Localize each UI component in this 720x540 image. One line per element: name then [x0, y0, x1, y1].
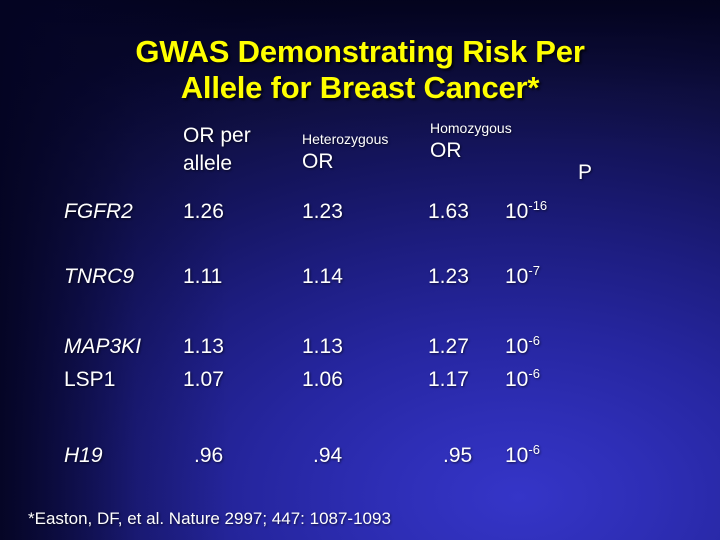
cell-p-value: 10-6: [505, 367, 540, 393]
slide-title-line-1: GWAS Demonstrating Risk Per: [0, 34, 720, 70]
cell-heterozygous-or: .94: [313, 443, 342, 469]
p-value-base: 10: [505, 265, 528, 288]
column-header-homozygous-or: Homozygous OR: [430, 120, 512, 165]
cell-gene: TNRC9: [64, 264, 134, 290]
cell-or-per-allele: 1.26: [183, 199, 224, 225]
column-header-p-value: P: [578, 160, 592, 186]
slide-title-line-2: Allele for Breast Cancer*: [0, 70, 720, 106]
cell-or-per-allele: 1.13: [183, 334, 224, 360]
cell-heterozygous-or: 1.23: [302, 199, 343, 225]
cell-homozygous-or: 1.23: [428, 264, 469, 290]
p-value-base: 10: [505, 200, 528, 223]
p-value-exponent: -6: [528, 333, 540, 348]
cell-homozygous-or: 1.27: [428, 334, 469, 360]
p-value-exponent: -7: [528, 263, 540, 278]
cell-homozygous-or: 1.17: [428, 367, 469, 393]
cell-or-per-allele: 1.11: [183, 264, 222, 290]
cell-heterozygous-or: 1.13: [302, 334, 343, 360]
slide-title: GWAS Demonstrating Risk Per Allele for B…: [0, 34, 720, 106]
column-header-or-per-allele-line-1: OR per: [183, 122, 251, 150]
column-header-heterozygous-or-label: OR: [302, 148, 388, 176]
cell-p-value: 10-6: [505, 334, 540, 360]
p-value-exponent: -6: [528, 366, 540, 381]
column-header-or-per-allele: OR per allele: [183, 122, 251, 178]
p-value-exponent: -16: [528, 198, 547, 213]
column-header-homozygous-label: Homozygous: [430, 120, 512, 137]
cell-homozygous-or: .95: [443, 443, 472, 469]
source-footnote: *Easton, DF, et al. Nature 2997; 447: 10…: [28, 508, 391, 530]
column-header-heterozygous-or: Heterozygous OR: [302, 131, 388, 176]
cell-p-value: 10-16: [505, 199, 547, 225]
cell-heterozygous-or: 1.06: [302, 367, 343, 393]
cell-gene: LSP1: [64, 367, 115, 393]
cell-heterozygous-or: 1.14: [302, 264, 343, 290]
cell-p-value: 10-6: [505, 443, 540, 469]
column-header-or-per-allele-line-2: allele: [183, 150, 251, 178]
p-value-base: 10: [505, 368, 528, 391]
p-value-base: 10: [505, 335, 528, 358]
cell-gene: H19: [64, 443, 103, 469]
cell-or-per-allele: 1.07: [183, 367, 224, 393]
column-header-homozygous-or-label: OR: [430, 137, 512, 165]
cell-p-value: 10-7: [505, 264, 540, 290]
p-value-base: 10: [505, 444, 528, 467]
column-header-heterozygous-label: Heterozygous: [302, 131, 388, 148]
cell-or-per-allele: .96: [194, 443, 223, 469]
cell-homozygous-or: 1.63: [428, 199, 469, 225]
p-value-exponent: -6: [528, 442, 540, 457]
cell-gene: FGFR2: [64, 199, 133, 225]
cell-gene: MAP3KI: [64, 334, 141, 360]
presentation-slide: GWAS Demonstrating Risk Per Allele for B…: [0, 0, 720, 540]
